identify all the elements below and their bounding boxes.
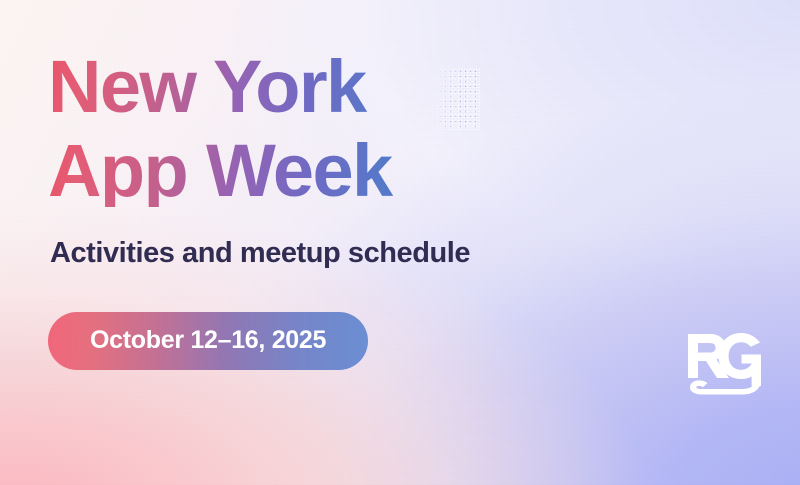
- rc-monogram-logo: [684, 328, 764, 400]
- headline-line-1: New York: [48, 52, 800, 122]
- page-title: New York App Week: [48, 52, 800, 207]
- headline-line-2: App Week: [48, 136, 800, 206]
- date-badge[interactable]: October 12–16, 2025: [48, 312, 368, 370]
- event-promo-banner: New York App Week Activities and meetup …: [0, 0, 800, 485]
- banner-content: New York App Week Activities and meetup …: [48, 52, 800, 370]
- banner-subtitle: Activities and meetup schedule: [50, 237, 800, 270]
